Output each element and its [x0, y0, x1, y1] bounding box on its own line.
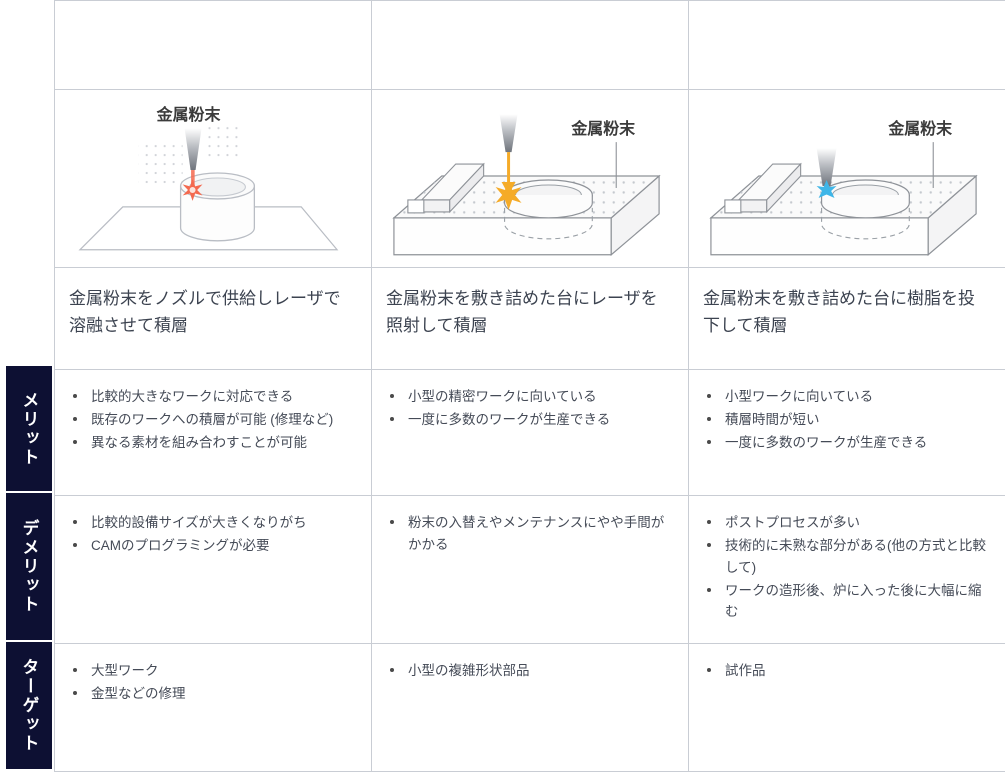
target-cell-powder-bed: 小型の複雑形状部品: [372, 644, 689, 772]
target-cell-binder-jet: 試作品: [689, 644, 1005, 772]
demerit-cell-powder-nozzle: 比較的設備サイズが大きくなりがちCAMのプログラミングが必要: [55, 496, 372, 644]
demerit-list: 粉末の入替えやメンテナンスにやや手間がかかる: [372, 496, 688, 556]
column-header-binder-jet: バインダージェット方式: [689, 1, 1005, 90]
column-subtitle: [PBF(パウダーベッドフュージョン)方式]: [372, 36, 688, 55]
merit-list: 比較的大きなワークに対応できる既存のワークへの積層が可能 (修理など)異なる素材…: [55, 370, 371, 454]
merit-cell-powder-nozzle: 比較的大きなワークに対応できる既存のワークへの積層が可能 (修理など)異なる素材…: [55, 370, 372, 496]
list-item: 一度に多数のワークが生産できる: [723, 432, 991, 454]
target-cell-powder-nozzle: 大型ワーク金型などの修理: [55, 644, 372, 772]
illustration-cell-binder-jet: 金属粉末: [689, 90, 1005, 268]
list-item: ワークの造形後、炉に入った後に大幅に縮む: [723, 580, 991, 624]
row-label-demerit: デメリット: [6, 493, 52, 640]
list-item: 小型の複雑形状部品: [406, 660, 674, 682]
column-title: バインダージェット方式: [689, 1, 1005, 27]
description-text: 金属粉末をノズルで供給しレーザで溶融させて積層: [55, 268, 371, 339]
illustration-cell-powder-bed: 金属粉末: [372, 90, 689, 268]
svg-text:金属粉末: 金属粉末: [570, 119, 635, 138]
am-method-comparison-table: パウダーノズル方式 [DED(ディレクティッドエナジーデポジション)方式] パウ…: [54, 0, 1005, 772]
description-cell-powder-nozzle: 金属粉末をノズルで供給しレーザで溶融させて積層: [55, 268, 372, 370]
demerit-row: 比較的設備サイズが大きくなりがちCAMのプログラミングが必要 粉末の入替えやメン…: [55, 496, 1005, 644]
demerit-list: ポストプロセスが多い技術的に未熟な部分がある(他の方式と比較して)ワークの造形後…: [689, 496, 1005, 623]
column-header-powder-nozzle: パウダーノズル方式 [DED(ディレクティッドエナジーデポジション)方式]: [55, 1, 372, 90]
description-row: 金属粉末をノズルで供給しレーザで溶融させて積層 金属粉末を敷き詰めた台にレーザを…: [55, 268, 1005, 370]
column-title: パウダーノズル方式: [55, 1, 371, 27]
powder-bed-illustration: 金属粉末: [372, 90, 688, 267]
list-item: 比較的大きなワークに対応できる: [89, 386, 357, 408]
list-item: 粉末の入替えやメンテナンスにやや手間がかかる: [406, 512, 674, 556]
table-header-row: パウダーノズル方式 [DED(ディレクティッドエナジーデポジション)方式] パウ…: [55, 1, 1005, 90]
list-item: ポストプロセスが多い: [723, 512, 991, 534]
demerit-cell-binder-jet: ポストプロセスが多い技術的に未熟な部分がある(他の方式と比較して)ワークの造形後…: [689, 496, 1005, 644]
target-row: 大型ワーク金型などの修理 小型の複雑形状部品 試作品: [55, 644, 1005, 772]
description-text: 金属粉末を敷き詰めた台に樹脂を投下して積層: [689, 268, 1005, 339]
illustration-cell-powder-nozzle: 金属粉末: [55, 90, 372, 268]
merit-row: 比較的大きなワークに対応できる既存のワークへの積層が可能 (修理など)異なる素材…: [55, 370, 1005, 496]
list-item: 試作品: [723, 660, 991, 682]
row-label-merit: メリット: [6, 366, 52, 491]
merit-cell-powder-bed: 小型の精密ワークに向いている一度に多数のワークが生産できる: [372, 370, 689, 496]
list-item: 既存のワークへの積層が可能 (修理など): [89, 409, 357, 431]
list-item: 金型などの修理: [89, 683, 357, 705]
list-item: 積層時間が短い: [723, 409, 991, 431]
list-item: 異なる素材を組み合わすことが可能: [89, 432, 357, 454]
demerit-list: 比較的設備サイズが大きくなりがちCAMのプログラミングが必要: [55, 496, 371, 557]
merit-list: 小型の精密ワークに向いている一度に多数のワークが生産できる: [372, 370, 688, 431]
list-item: 技術的に未熟な部分がある(他の方式と比較して): [723, 535, 991, 579]
comparison-table-page: メリット デメリット ターゲット パウダーノズル方式 [DED(ディレクティッド…: [0, 0, 1005, 769]
column-header-powder-bed: パウダーベッド方式 [PBF(パウダーベッドフュージョン)方式]: [372, 1, 689, 90]
list-item: 小型ワークに向いている: [723, 386, 991, 408]
column-title: パウダーベッド方式: [372, 1, 688, 27]
list-item: 小型の精密ワークに向いている: [406, 386, 674, 408]
description-text: 金属粉末を敷き詰めた台にレーザを照射して積層: [372, 268, 688, 339]
description-cell-powder-bed: 金属粉末を敷き詰めた台にレーザを照射して積層: [372, 268, 689, 370]
target-list: 小型の複雑形状部品: [372, 644, 688, 682]
list-item: 一度に多数のワークが生産できる: [406, 409, 674, 431]
column-subtitle: [DED(ディレクティッドエナジーデポジション)方式]: [55, 36, 371, 55]
target-list: 試作品: [689, 644, 1005, 682]
merit-list: 小型ワークに向いている積層時間が短い一度に多数のワークが生産できる: [689, 370, 1005, 454]
row-label-target: ターゲット: [6, 642, 52, 769]
target-list: 大型ワーク金型などの修理: [55, 644, 371, 705]
svg-text:金属粉末: 金属粉末: [887, 119, 952, 138]
list-item: 比較的設備サイズが大きくなりがち: [89, 512, 357, 534]
description-cell-binder-jet: 金属粉末を敷き詰めた台に樹脂を投下して積層: [689, 268, 1005, 370]
list-item: 大型ワーク: [89, 660, 357, 682]
illustration-row: 金属粉末: [55, 90, 1005, 268]
binder-jet-illustration: 金属粉末: [689, 90, 1005, 267]
demerit-cell-powder-bed: 粉末の入替えやメンテナンスにやや手間がかかる: [372, 496, 689, 644]
svg-text:金属粉末: 金属粉末: [156, 105, 221, 124]
powder-nozzle-illustration: 金属粉末: [55, 90, 371, 267]
merit-cell-binder-jet: 小型ワークに向いている積層時間が短い一度に多数のワークが生産できる: [689, 370, 1005, 496]
list-item: CAMのプログラミングが必要: [89, 535, 357, 557]
